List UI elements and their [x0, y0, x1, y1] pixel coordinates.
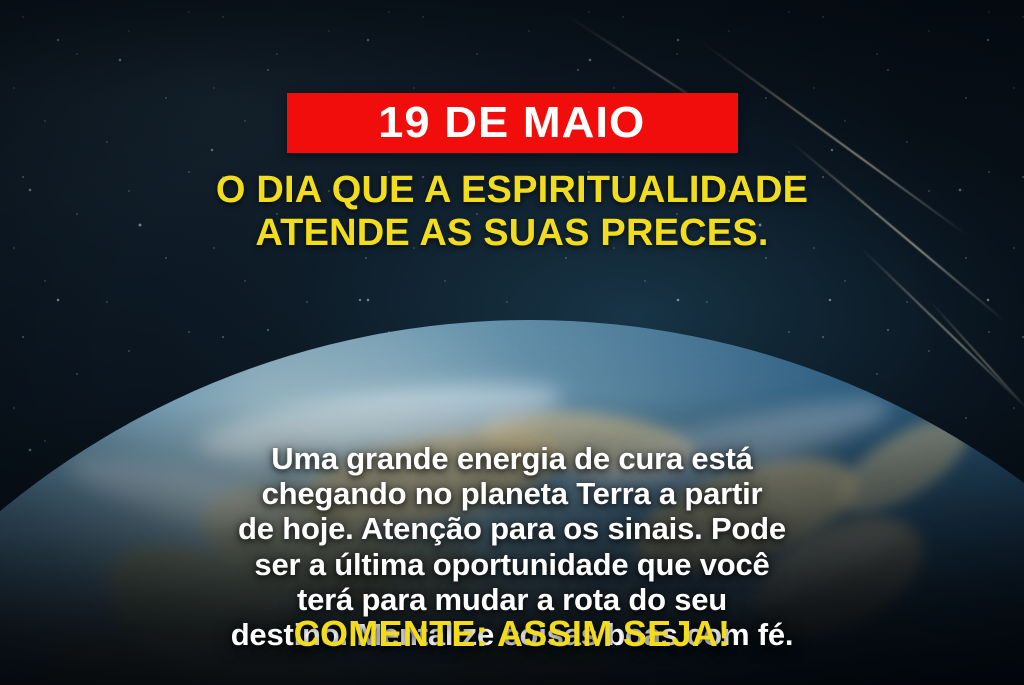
- body-line-2: chegando no planeta Terra a partir: [62, 476, 962, 511]
- body-line-4: ser a última oportunidade que você: [62, 547, 962, 582]
- body-line-3: de hoje. Atenção para os sinais. Pode: [62, 511, 962, 546]
- date-badge: 19 DE MAIO: [287, 93, 738, 153]
- headline-line-2: ATENDE AS SUAS PRECES.: [37, 212, 987, 255]
- body-line-5: terá para mudar a rota do seu: [62, 582, 962, 617]
- poster-canvas: 19 DE MAIO O DIA QUE A ESPIRITUALIDADE A…: [0, 0, 1024, 685]
- headline: O DIA QUE A ESPIRITUALIDADE ATENDE AS SU…: [37, 169, 987, 256]
- date-badge-label: 19 DE MAIO: [378, 101, 645, 145]
- call-to-action-label: COMENTE: ASSIM SEJA!: [294, 616, 731, 652]
- body-line-1: Uma grande energia de cura está: [62, 441, 962, 476]
- headline-line-1: O DIA QUE A ESPIRITUALIDADE: [37, 169, 987, 212]
- poster-content: 19 DE MAIO O DIA QUE A ESPIRITUALIDADE A…: [0, 0, 1024, 685]
